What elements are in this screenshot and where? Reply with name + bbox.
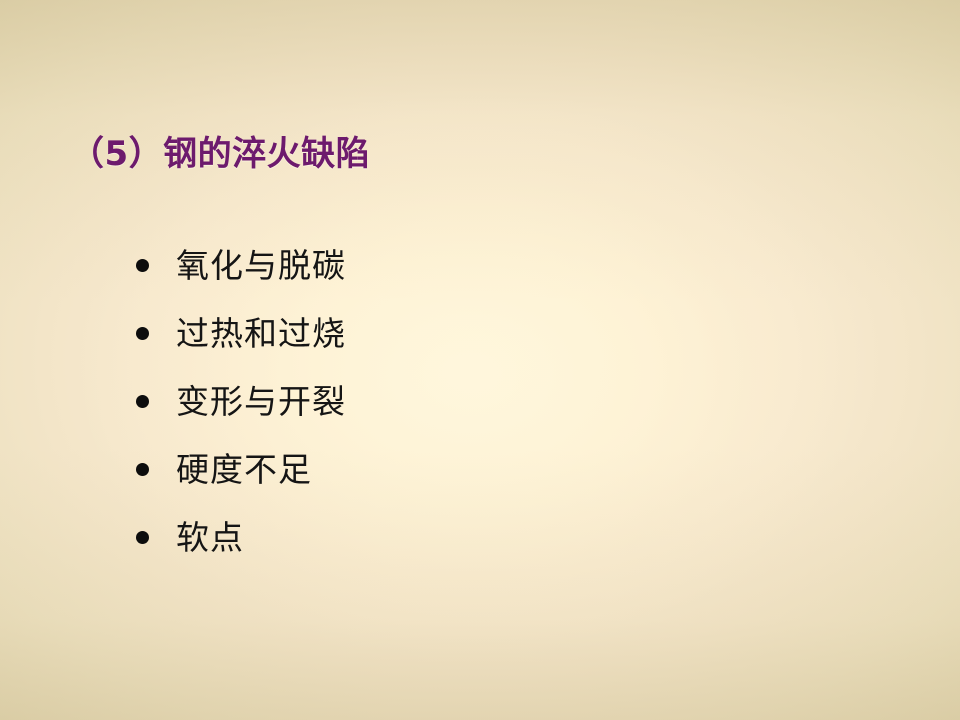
presentation-slide: （5）钢的淬火缺陷 氧化与脱碳 过热和过烧 变形与开裂 硬度不足 软点 [0,0,960,720]
list-item: 变形与开裂 [136,367,346,435]
list-item-label: 氧化与脱碳 [176,249,346,282]
slide-content: （5）钢的淬火缺陷 氧化与脱碳 过热和过烧 变形与开裂 硬度不足 软点 [0,0,960,720]
list-item: 软点 [136,503,346,571]
list-item: 硬度不足 [136,435,346,503]
bullet-dot-icon [136,463,149,476]
list-item-label: 变形与开裂 [176,385,346,418]
list-item: 过热和过烧 [136,299,346,367]
bullet-list: 氧化与脱碳 过热和过烧 变形与开裂 硬度不足 软点 [136,231,346,571]
list-item-label: 软点 [176,521,244,554]
bullet-dot-icon [136,259,149,272]
slide-title: （5）钢的淬火缺陷 [70,134,370,174]
bullet-dot-icon [136,395,149,408]
list-item-label: 过热和过烧 [176,317,346,350]
bullet-dot-icon [136,327,149,340]
bullet-dot-icon [136,531,149,544]
list-item-label: 硬度不足 [176,453,312,486]
list-item: 氧化与脱碳 [136,231,346,299]
